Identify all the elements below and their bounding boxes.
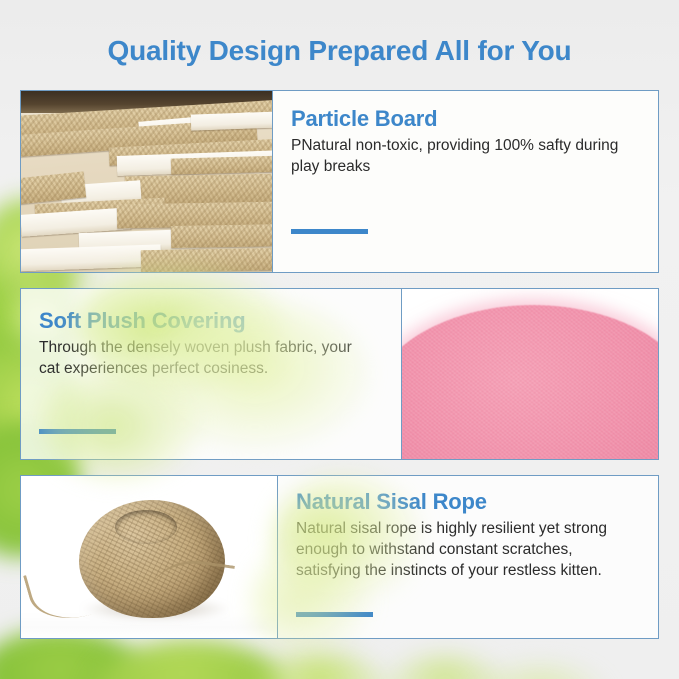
accent-bar: [39, 429, 116, 434]
accent-bar: [296, 612, 373, 617]
plush-fabric-blob: [402, 305, 658, 459]
board-plank: [171, 155, 272, 174]
accent-bar: [291, 229, 368, 234]
leaf-blur-shape: [244, 652, 394, 679]
feature-card-natural-sisal-rope: Natural Sisal Rope Natural sisal rope is…: [20, 475, 659, 639]
card-text-pane: Natural Sisal Rope Natural sisal rope is…: [278, 476, 658, 638]
sisal-rope-ball-photo: [21, 476, 277, 638]
feature-title: Particle Board: [291, 105, 640, 132]
infographic-canvas: Quality Design Prepared All for You: [0, 0, 679, 679]
feature-body-text: Natural sisal rope is highly resilient y…: [296, 518, 640, 581]
page-title: Quality Design Prepared All for You: [0, 34, 679, 68]
rope-ball-center-hole: [115, 510, 177, 544]
feature-title: Natural Sisal Rope: [296, 488, 640, 515]
feature-title: Soft Plush Covering: [39, 307, 383, 334]
card-media-pane: [402, 289, 658, 459]
leaf-blur-shape: [92, 640, 292, 679]
feature-body-text: PNatural non-toxic, providing 100% safty…: [291, 135, 636, 177]
card-media-pane: [21, 91, 272, 272]
feature-card-particle-board: Particle Board PNatural non-toxic, provi…: [20, 90, 659, 273]
pink-plush-fabric-photo: [402, 289, 658, 459]
particle-board-photo: [21, 91, 272, 272]
card-text-pane: Soft Plush Covering Through the densely …: [21, 289, 401, 459]
card-media-pane: [21, 476, 277, 638]
card-text-pane: Particle Board PNatural non-toxic, provi…: [273, 91, 658, 272]
board-plank: [171, 224, 272, 248]
leaf-blur-shape: [470, 664, 610, 679]
board-plank: [141, 248, 272, 272]
feature-card-soft-plush-covering: Soft Plush Covering Through the densely …: [20, 288, 659, 460]
leaf-blur-shape: [380, 655, 510, 679]
rope-strand: [147, 555, 235, 629]
board-plank: [191, 111, 272, 130]
feature-body-text: Through the densely woven plush fabric, …: [39, 337, 369, 379]
